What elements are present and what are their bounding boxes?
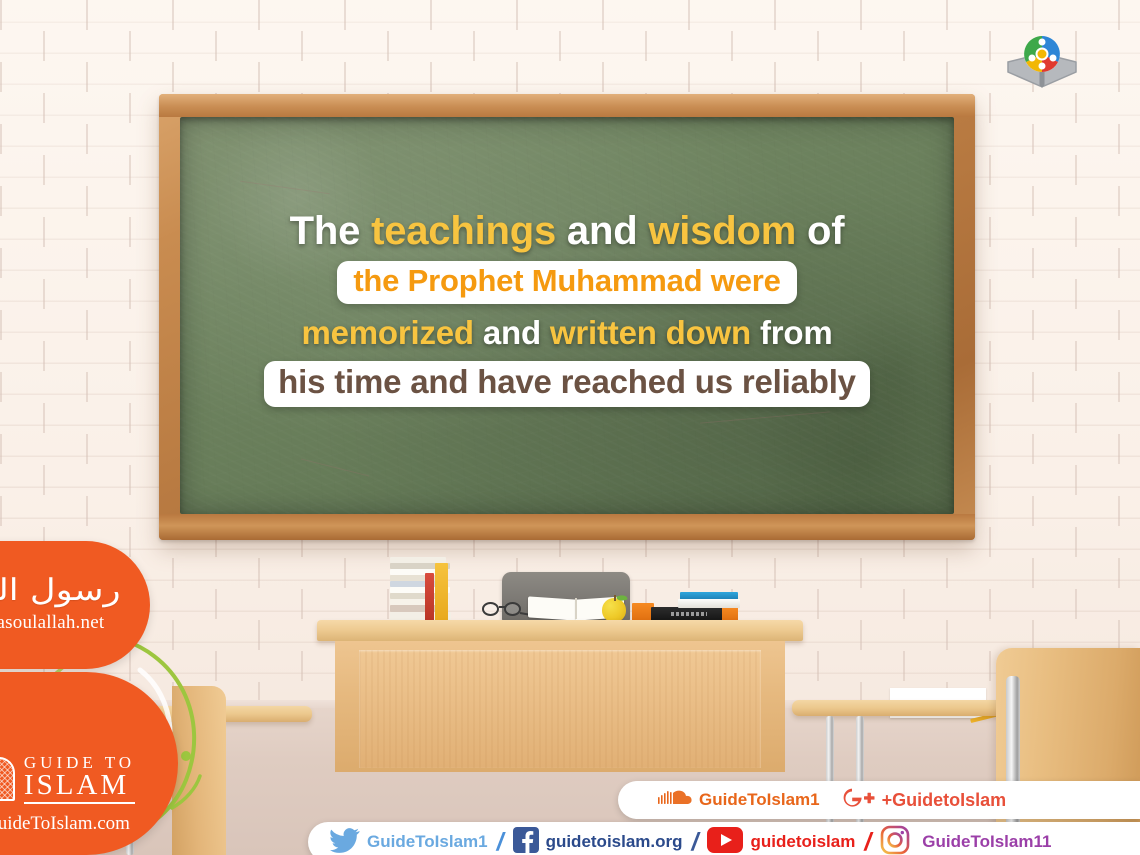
soundcloud-item[interactable]: GuideToIslam1 [658, 789, 820, 812]
eyeglasses [482, 600, 528, 620]
chalkboard-quote: The teachings and wisdom of the Prophet … [180, 210, 954, 420]
youtube-icon [707, 827, 743, 855]
googleplus-item[interactable]: +GuidetoIslam [839, 786, 1007, 815]
guidetoislam-logo[interactable]: GUIDE TO ISLAM GuideToIslam.com [0, 672, 178, 855]
board-scratch [301, 459, 369, 477]
quote-line-1: The teachings and wisdom of [180, 210, 954, 252]
quote-word-highlight: teachings [371, 209, 567, 253]
quote-word-highlight: wisdom [648, 209, 807, 253]
guidetoislam-wordmark: GUIDE TO ISLAM [24, 754, 135, 804]
social-bar-bottom: GuideToIslam1 / guidetoislam.org / guide… [308, 822, 1140, 855]
poster-canvas: The teachings and wisdom of the Prophet … [0, 0, 1140, 855]
twitter-label: GuideToIslam1 [367, 832, 488, 852]
separator-3: / [864, 828, 871, 855]
yellow-book-upright [435, 563, 448, 621]
quote-line-4: his time and have reached us reliably [180, 361, 954, 407]
instagram-icon [880, 825, 910, 855]
chalkboard-frame: The teachings and wisdom of the Prophet … [159, 94, 975, 540]
mihrab-arch-icon [0, 757, 15, 801]
red-book-upright [425, 573, 434, 621]
soundcloud-icon [658, 789, 692, 812]
white-book [678, 599, 740, 608]
globe-book-icon [1004, 32, 1080, 90]
wordmark-line-2: ISLAM [24, 771, 135, 804]
open-book-spine [575, 598, 577, 619]
quote-word: of [807, 209, 844, 253]
twitter-item[interactable]: GuideToIslam1 [330, 827, 488, 855]
guidetoislam-domain: GuideToIslam.com [0, 813, 130, 835]
quote-band-prophet: the Prophet Muhammad were [337, 261, 796, 304]
apple [602, 598, 626, 622]
separator-1: / [497, 828, 504, 855]
apple-body [602, 598, 626, 622]
instagram-label: GuideToIslam11 [922, 832, 1051, 852]
black-pencil-case [651, 607, 725, 621]
eyeglass-lens-right [504, 602, 521, 616]
quote-line-2: the Prophet Muhammad were [180, 261, 954, 304]
googleplus-label: +GuidetoIslam [882, 790, 1007, 811]
quote-word-highlight: memorized [301, 314, 482, 351]
instagram-item[interactable]: GuideToIslam11 [880, 825, 1051, 855]
arabic-calligraphy: رسول الله [0, 576, 121, 606]
guidetoislam-wordmark-row: GUIDE TO ISLAM [0, 754, 135, 804]
open-book-page-left [528, 596, 576, 620]
google-plus-icon [839, 786, 875, 815]
youtube-item[interactable]: guidetoislam [707, 827, 855, 855]
eyeglass-bridge [499, 606, 505, 608]
teacher-desk-top [317, 620, 803, 641]
quote-word: The [290, 209, 371, 253]
quote-word: and [567, 209, 648, 253]
facebook-label: guidetoislam.org [546, 832, 683, 852]
facebook-item[interactable]: guidetoislam.org [513, 827, 683, 855]
rasoulallah-domain: Rasoulallah.net [0, 612, 104, 634]
eyeglass-lens-left [482, 602, 499, 616]
youtube-label: guidetoislam [750, 832, 855, 852]
social-bar-top: GuideToIslam1 +GuidetoIslam [618, 781, 1140, 819]
twitter-icon [330, 827, 360, 855]
quote-word: and [483, 314, 550, 351]
facebook-icon [513, 827, 539, 855]
quote-word-highlight: written down [550, 314, 760, 351]
teacher-desk [317, 620, 803, 772]
quote-line-3: memorized and written down from [180, 316, 954, 351]
teacher-desk-panel [359, 650, 761, 768]
separator-2: / [692, 828, 699, 855]
quote-word: from [760, 314, 833, 351]
orange-box-right [722, 607, 738, 621]
soundcloud-label: GuideToIslam1 [699, 790, 820, 810]
quote-band-reliably: his time and have reached us reliably [264, 361, 870, 407]
board-scratch [240, 181, 329, 195]
globe-book-logo[interactable] [1004, 32, 1080, 90]
chalkboard-surface: The teachings and wisdom of the Prophet … [180, 117, 954, 514]
rasoulallah-logo[interactable]: رسول الله Rasoulallah.net [0, 541, 150, 669]
